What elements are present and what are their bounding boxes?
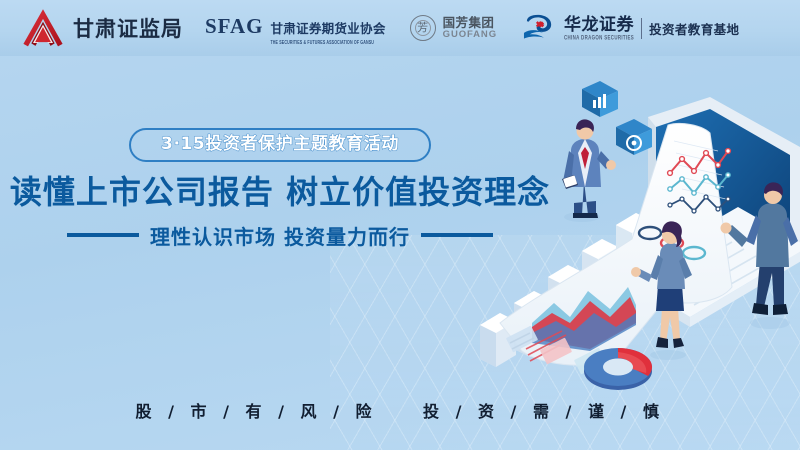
logo-gansu-csrc: 甘肃证监局 [22,8,183,48]
floating-bar-chart-card-icon [582,81,618,117]
footer-slogan: 股 / 市 / 有 / 风 / 险 投 / 资 / 需 / 谨 / 慎 [0,398,800,422]
logo-china-dragon: 华龙证券 CHINA DRAGON SECURITIES 投资者教育基地 [523,14,739,42]
rule-left-icon [67,233,139,237]
gansu-csrc-label: 甘肃证监局 [73,13,183,43]
header-logo-bar: 甘肃证监局 SFAG 甘肃证券期货业协会 THE SECURITIES & FU… [0,0,800,56]
subtitle-row: 理性认识市场 投资量力而行 [0,221,560,250]
china-dragon-cn-label: 华龙证券 [564,17,634,34]
guofang-cn-label: 国芳集团 [443,17,497,30]
slogan-left: 股 / 市 / 有 / 风 / 险 [136,398,377,422]
sfag-cn-label: 甘肃证券期货业协会 [270,21,385,36]
floating-analytics-card-icon [616,119,652,155]
investor-education-base-label: 投资者教育基地 [649,19,739,38]
sfag-abbr-label: SFAG [205,14,263,39]
guofang-seal-glyph: 芳 [417,23,428,34]
logo-divider [641,18,642,39]
guofang-seal-icon: 芳 [410,15,436,41]
rule-right-icon [421,233,493,237]
page-subtitle: 理性认识市场 投资量力而行 [150,221,410,250]
logo-sfag: SFAG 甘肃证券期货业协会 THE SECURITIES & FUTURES … [205,14,386,43]
logo-guofang: 芳 国芳集团 GUOFANG [410,15,497,41]
csrc-triangle-logo-icon [22,8,64,48]
campaign-badge: 3·15投资者保护主题教育活动 [129,128,431,162]
page-title: 读懂上市公司报告 树立价值投资理念 [0,173,560,211]
sfag-en-label: THE SECURITIES & FUTURES ASSOCIATION OF … [270,39,385,45]
poster-canvas: 甘肃证监局 SFAG 甘肃证券期货业协会 THE SECURITIES & FU… [0,0,800,450]
headline-block: 3·15投资者保护主题教育活动 读懂上市公司报告 树立价值投资理念 理性认识市场… [0,128,560,250]
china-dragon-wave-icon [523,14,557,42]
donut-chart [584,348,652,390]
standing-man-with-clipboard [562,119,616,222]
campaign-badge-label: 3·15投资者保护主题教育活动 [161,134,399,154]
china-dragon-en-label: CHINA DRAGON SECURITIES [564,35,634,42]
guofang-en-label: GUOFANG [443,30,497,40]
slogan-right: 投 / 资 / 需 / 谨 / 慎 [423,398,664,422]
